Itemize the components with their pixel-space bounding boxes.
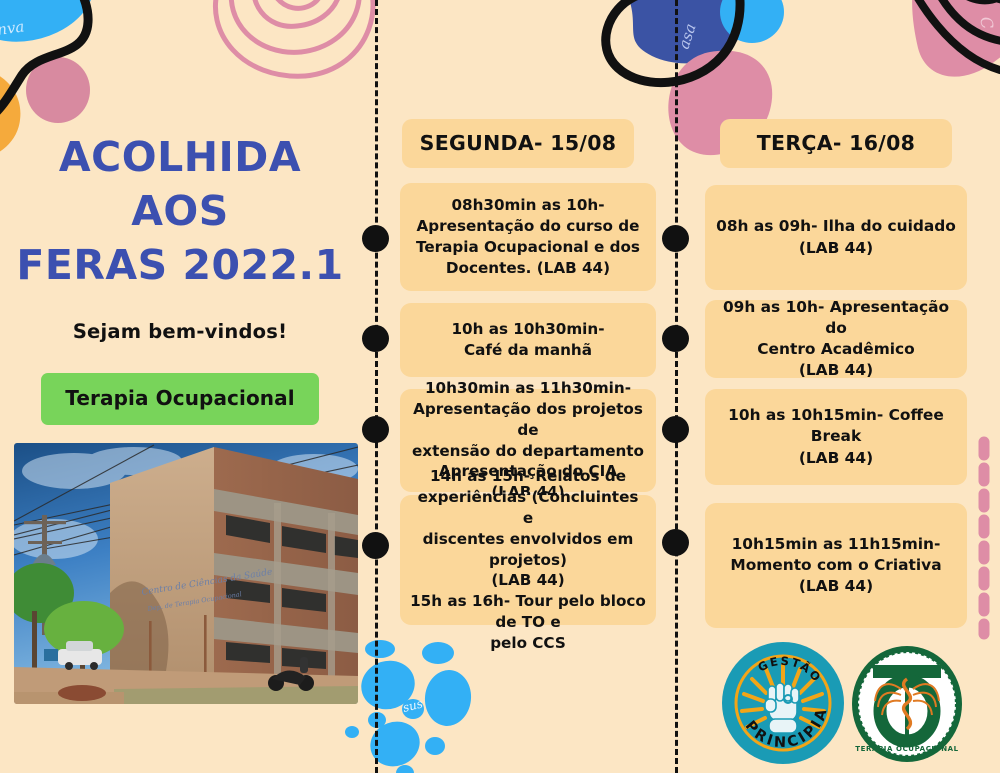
timeline-dot [362,532,389,559]
timeline-dot [662,529,689,556]
timeline-dot [362,416,389,443]
timeline-dot [662,416,689,443]
poster-headline-block: ACOLHIDA AOS FERAS 2022.1 Sejam bem-vind… [0,130,360,425]
schedule-column-monday: SEGUNDA- 15/08 08h30min as 10h- Apresent… [360,0,660,773]
schedule-column-tuesday: TERÇA- 16/08 08h as 09h- Ilha do cuidado… [660,0,960,773]
page-title-line1: ACOLHIDA AOS [12,130,348,238]
svg-text:nva: nva [0,17,25,39]
day-header-monday: SEGUNDA- 15/08 [402,119,634,168]
day-header-tuesday: TERÇA- 16/08 [720,119,952,168]
course-badge-wrapper: Terapia Ocupacional [0,373,360,425]
schedule-card: 08h30min as 10h- Apresentação do curso d… [400,183,656,291]
schedule-card: 14h as 15h- Relatos de experiências (Con… [400,495,656,625]
timeline-axis-monday [375,0,378,773]
schedule-card: 09h as 10h- Apresentação do Centro Acadê… [705,300,967,378]
page-title-line2: FERAS 2022.1 [12,238,348,292]
poster-subtitle: Sejam bem-vindos! [0,320,360,343]
timeline-dot [662,325,689,352]
page-title: ACOLHIDA AOS FERAS 2022.1 [0,130,360,292]
schedule-card: 10h as 10h30min- Café da manhã [400,303,656,377]
timeline-dot [662,225,689,252]
svg-text:C: C [976,15,997,31]
decoration-spiral-pink [205,0,385,112]
timeline-dot [362,325,389,352]
timeline-axis-tuesday [675,0,678,773]
building-photo: Centro de Ciências da Saúde Dep. de Tera… [14,443,358,704]
schedule-card: 10h15min as 11h15min- Momento com o Cria… [705,503,967,628]
schedule-card: 08h as 09h- Ilha do cuidado (LAB 44) [705,185,967,290]
decoration-dashed-pink-right [975,438,995,638]
course-badge: Terapia Ocupacional [41,373,318,425]
schedule-card: 10h as 10h15min- Coffee Break (LAB 44) [705,389,967,485]
timeline-dot [362,225,389,252]
poster-canvas: nva asa [0,0,1000,773]
